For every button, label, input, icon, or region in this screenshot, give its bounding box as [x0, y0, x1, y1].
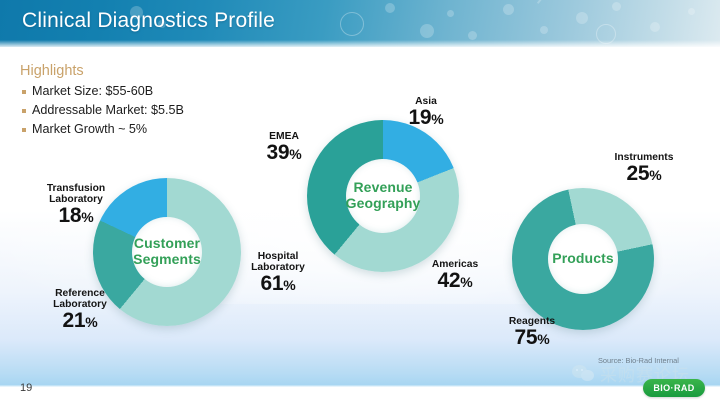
callout-transfusion-laboratory: Transfusion Laboratory 18% [30, 183, 122, 228]
bullet-icon [22, 109, 26, 113]
callout-number: 19 [409, 106, 432, 129]
callout-percent: % [289, 146, 301, 162]
callout-value: 21% [34, 310, 126, 333]
callout-number: 21 [63, 309, 86, 332]
callout-number: 25 [627, 162, 650, 185]
callout-percent: % [85, 314, 97, 330]
callout-percent: % [460, 274, 472, 290]
callout-value: 75% [486, 327, 578, 350]
donut-center-customer-segments: Customer Segments [132, 217, 202, 287]
chart-revenue-geography: Revenue Geography [307, 120, 459, 272]
biorad-logo-text: BIO·RAD [653, 383, 694, 393]
callout-number: 61 [261, 272, 284, 295]
highlights-title: Highlights [20, 63, 255, 79]
callout-percent: % [537, 331, 549, 347]
callout-instruments: Instruments 25% [596, 152, 692, 186]
callout-percent: % [81, 209, 93, 225]
callout-percent: % [649, 167, 661, 183]
highlight-item: Addressable Market: $5.5B [20, 102, 255, 120]
wechat-bubble-small [581, 370, 594, 381]
highlight-text: Addressable Market: $5.5B [32, 102, 184, 120]
highlight-text: Market Growth ~ 5% [32, 121, 147, 139]
callout-asia: Asia 19% [388, 96, 464, 130]
callout-value: 61% [232, 273, 324, 296]
callout-value: 39% [248, 142, 320, 165]
callout-value: 42% [412, 270, 498, 293]
donut-center-products: Products [548, 224, 618, 294]
callout-number: 39 [267, 141, 290, 164]
source-note: Source: Bio-Rad Internal [598, 356, 679, 365]
center-line-1: Products [552, 250, 613, 266]
callout-value: 18% [30, 205, 122, 228]
donut-center-revenue-geography: Revenue Geography [346, 159, 420, 233]
wechat-dot [576, 369, 578, 371]
center-line-1: Customer [134, 235, 200, 251]
wechat-dot [581, 369, 583, 371]
callout-number: 42 [438, 269, 461, 292]
donut-center-label: Customer Segments [133, 236, 201, 267]
page-number: 19 [20, 382, 32, 394]
callout-name-line1: Transfusion [30, 183, 122, 194]
header-fade [0, 40, 720, 47]
bokeh-ring [340, 12, 364, 36]
callout-americas: Americas 42% [412, 259, 498, 293]
donut-center-label: Revenue Geography [346, 180, 421, 211]
highlight-text: Market Size: $55-60B [32, 83, 153, 101]
center-line-1: Revenue [353, 179, 412, 195]
chart-products: Products [512, 188, 654, 330]
callout-name-line1: Reference [34, 288, 126, 299]
bullet-icon [22, 90, 26, 94]
center-line-2: Geography [346, 195, 421, 211]
callout-value: 25% [596, 163, 692, 186]
highlights-block: Highlights Market Size: $55-60B Addressa… [20, 63, 255, 140]
center-line-2: Segments [133, 251, 201, 267]
callout-percent: % [283, 277, 295, 293]
callout-value: 19% [388, 107, 464, 130]
callout-reference-laboratory: Reference Laboratory 21% [34, 288, 126, 333]
bullet-icon [22, 128, 26, 132]
callout-number: 18 [59, 204, 82, 227]
biorad-logo: BIO·RAD [643, 379, 705, 397]
bokeh-dot [385, 3, 395, 13]
donut-center-label: Products [552, 251, 613, 267]
callout-number: 75 [515, 326, 538, 349]
callout-reagents: Reagents 75% [486, 316, 578, 350]
callout-percent: % [431, 111, 443, 127]
header-banner: Clinical Diagnostics Profile [0, 0, 720, 47]
page-title: Clinical Diagnostics Profile [22, 9, 275, 33]
highlight-item: Market Size: $55-60B [20, 83, 255, 101]
wechat-icon [572, 364, 596, 383]
callout-emea: EMEA 39% [248, 131, 320, 165]
highlight-item: Market Growth ~ 5% [20, 121, 255, 139]
bokeh-dot [420, 24, 434, 38]
slide-root: Clinical Diagnostics Profile Highlights … [0, 0, 720, 405]
